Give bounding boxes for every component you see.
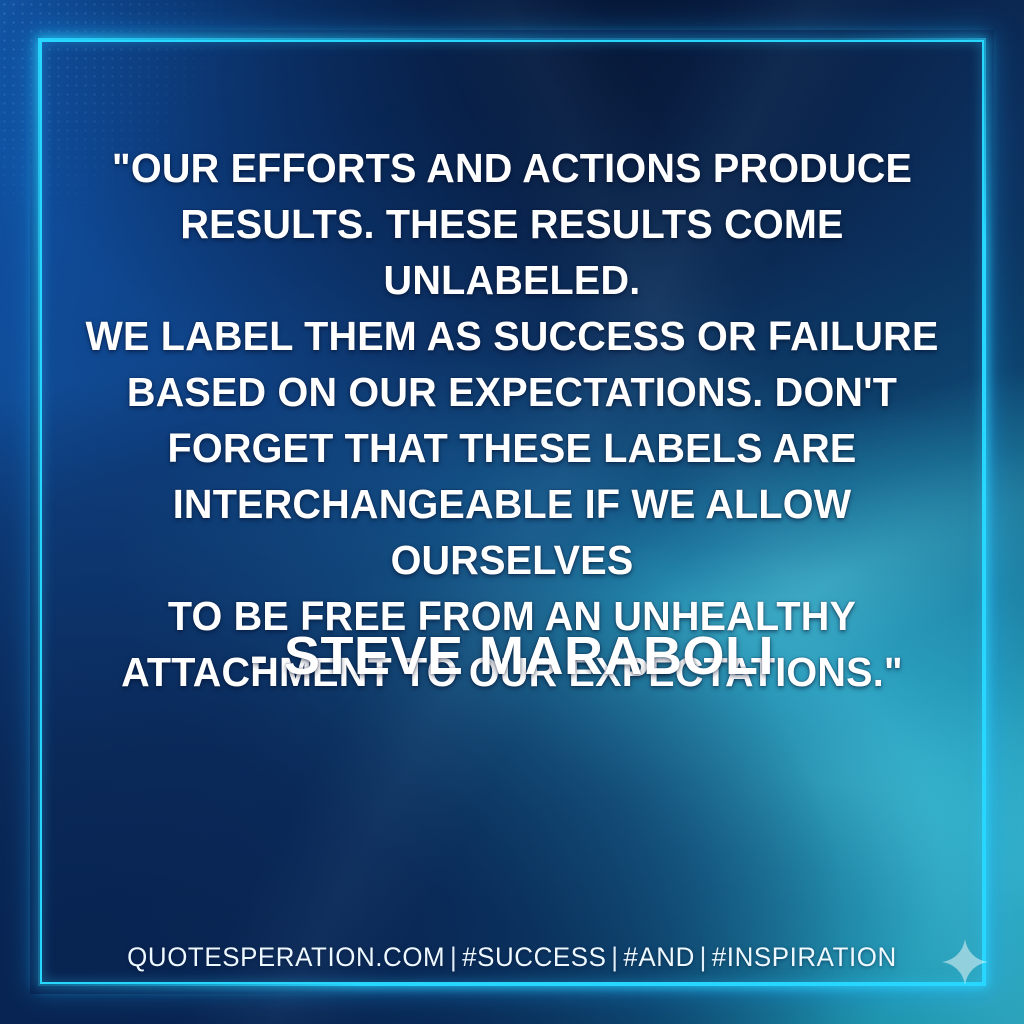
quote-poster: "OUR EFFORTS AND ACTIONS PRODUCE RESULTS…: [0, 0, 1024, 1024]
poster-content: "OUR EFFORTS AND ACTIONS PRODUCE RESULTS…: [0, 0, 1024, 1024]
footer-separator-3: |: [695, 942, 712, 972]
footer-credits: QUOTESPERATION.COM|#SUCCESS|#AND|#INSPIR…: [20, 941, 1003, 973]
quote-author: - STEVE MARABOLI: [0, 624, 1024, 688]
footer-tag-inspiration: #INSPIRATION: [712, 942, 897, 972]
quote-text: "OUR EFFORTS AND ACTIONS PRODUCE RESULTS…: [76, 140, 948, 700]
footer-tag-success: #SUCCESS: [462, 942, 606, 972]
footer-website: QUOTESPERATION.COM: [127, 942, 445, 972]
footer-separator-1: |: [445, 942, 462, 972]
footer-tag-and: #AND: [623, 942, 694, 972]
sparkle-icon: [941, 938, 989, 986]
footer-separator-2: |: [607, 942, 624, 972]
